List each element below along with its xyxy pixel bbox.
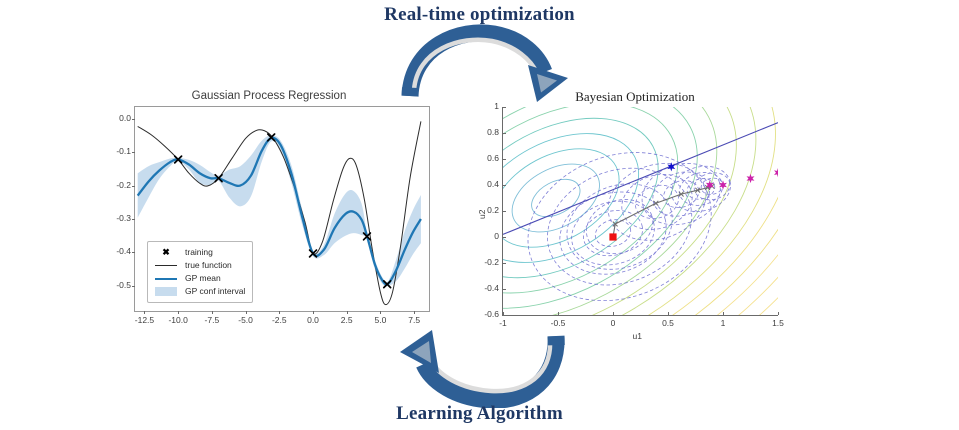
bo-y-tick: 0.8 bbox=[475, 127, 499, 137]
bo-x-tick: 0.5 bbox=[653, 318, 683, 328]
gpr-y-tickmark bbox=[132, 252, 135, 253]
line-black-icon bbox=[153, 265, 179, 266]
gpr-x-tick: 0.0 bbox=[297, 315, 329, 325]
gpr-x-tick: 7.5 bbox=[398, 315, 430, 325]
bo-x-tick: 1.5 bbox=[763, 318, 793, 328]
line-blue-icon bbox=[153, 278, 179, 280]
bo-y-tickmark bbox=[503, 185, 506, 186]
gpr-x-tickmark bbox=[414, 311, 415, 314]
training-marker-icon: ✖ bbox=[153, 248, 179, 257]
bayesian-optimization-panel: Bayesian Optimization 10.80.60.40.20-0.2… bbox=[470, 88, 800, 350]
gpr-x-tick: -5.0 bbox=[230, 315, 262, 325]
gpr-x-tickmark bbox=[313, 311, 314, 314]
gpr-x-tick: 5.0 bbox=[364, 315, 396, 325]
bo-x-tickmark bbox=[558, 312, 559, 315]
gpr-y-tick: 0.0 bbox=[101, 113, 131, 123]
cycle-caption-top: Real-time optimization bbox=[0, 4, 959, 26]
bo-x-tickmark bbox=[723, 312, 724, 315]
gaussian-process-regression-panel: Gaussian Process Regression ✖ training bbox=[108, 88, 430, 328]
gpr-x-tick: -7.5 bbox=[196, 315, 228, 325]
gpr-x-tickmark bbox=[144, 311, 145, 314]
legend-item-gp-conf-interval: GP conf interval bbox=[153, 285, 245, 298]
gpr-y-tick: -0.5 bbox=[101, 280, 131, 290]
bo-plot-area: 10.80.60.40.20-0.2-0.4-0.6 -1-0.500.511.… bbox=[502, 107, 778, 316]
band-swatch-icon bbox=[153, 287, 179, 296]
objective-contour bbox=[503, 129, 636, 268]
legend-label: GP conf interval bbox=[185, 287, 245, 296]
bo-x-tick: -0.5 bbox=[543, 318, 573, 328]
legend-label: true function bbox=[185, 261, 232, 270]
legend-item-gp-mean: GP mean bbox=[153, 272, 245, 285]
gpr-x-tick: -12.5 bbox=[128, 315, 160, 325]
gpr-y-tick: -0.3 bbox=[101, 213, 131, 223]
objective-contour bbox=[525, 172, 586, 225]
gpr-y-tickmark bbox=[132, 186, 135, 187]
gpr-y-tickmark bbox=[132, 286, 135, 287]
bo-y-tick: 1 bbox=[475, 101, 499, 111]
gpr-x-tick: 2.5 bbox=[331, 315, 363, 325]
bo-x-tick: -1 bbox=[488, 318, 518, 328]
legend-label: GP mean bbox=[185, 274, 221, 283]
gpr-x-tick: -2.5 bbox=[263, 315, 295, 325]
bo-y-tick: -0.2 bbox=[475, 257, 499, 267]
gpr-x-tickmark bbox=[178, 311, 179, 314]
bo-y-tick: 0.4 bbox=[475, 179, 499, 189]
gpr-y-tick: -0.1 bbox=[101, 146, 131, 156]
cycle-caption-bottom: Learning Algorithm bbox=[0, 403, 959, 425]
sampled-optimum-star-marker bbox=[774, 168, 778, 177]
gpr-chart-title: Gaussian Process Regression bbox=[108, 88, 430, 104]
bo-y-tickmark bbox=[503, 289, 506, 290]
linear-constraint-line bbox=[503, 123, 778, 235]
gpr-y-tick: -0.4 bbox=[101, 246, 131, 256]
bo-y-tick: 0 bbox=[475, 231, 499, 241]
bo-x-tick: 1 bbox=[708, 318, 738, 328]
gpr-x-tickmark bbox=[246, 311, 247, 314]
objective-contour bbox=[503, 107, 759, 315]
gpr-x-tickmark bbox=[279, 311, 280, 314]
bo-x-tickmark bbox=[613, 312, 614, 315]
gpr-plot-area: ✖ training true function GP mean GP conf… bbox=[134, 106, 430, 312]
trust-region-ellipse bbox=[550, 180, 675, 285]
figure-root: Real-time optimization Gaussian Process … bbox=[0, 0, 959, 430]
trust-region-ellipse bbox=[592, 216, 634, 250]
objective-contour bbox=[503, 150, 611, 246]
bo-x-tickmark bbox=[778, 312, 779, 315]
bo-chart-title: Bayesian Optimization bbox=[470, 88, 800, 106]
gpr-y-tickmark bbox=[132, 119, 135, 120]
bo-y-tick: 0.6 bbox=[475, 153, 499, 163]
legend-label: training bbox=[185, 248, 213, 257]
gpr-x-tickmark bbox=[380, 311, 381, 314]
gpr-y-tick: -0.2 bbox=[101, 180, 131, 190]
bo-y-tickmark bbox=[503, 133, 506, 134]
bo-y-tickmark bbox=[503, 211, 506, 212]
bo-x-axis-label: u1 bbox=[633, 331, 642, 341]
bo-y-tickmark bbox=[503, 107, 506, 108]
bo-y-tickmark bbox=[503, 315, 506, 316]
bo-y-tickmark bbox=[503, 237, 506, 238]
bo-y-tickmark bbox=[503, 159, 506, 160]
gpr-x-tickmark bbox=[212, 311, 213, 314]
legend-item-training: ✖ training bbox=[153, 246, 245, 259]
path-waypoint-marker bbox=[654, 201, 659, 206]
objective-contour bbox=[503, 107, 685, 310]
gpr-legend: ✖ training true function GP mean GP conf… bbox=[147, 241, 253, 303]
initial-point-square-marker bbox=[609, 233, 616, 240]
sampled-optimum-star-marker bbox=[747, 174, 755, 183]
bo-plot-svg bbox=[503, 107, 778, 315]
gpr-x-tickmark bbox=[347, 311, 348, 314]
bo-y-tick: -0.4 bbox=[475, 283, 499, 293]
legend-item-true-function: true function bbox=[153, 259, 245, 272]
curved-arrow-left-icon bbox=[398, 330, 568, 413]
bo-x-tickmark bbox=[503, 312, 504, 315]
gpr-y-tickmark bbox=[132, 219, 135, 220]
bo-y-tickmark bbox=[503, 263, 506, 264]
bo-x-tickmark bbox=[668, 312, 669, 315]
gpr-x-tick: -10.0 bbox=[162, 315, 194, 325]
bo-x-tick: 0 bbox=[598, 318, 628, 328]
gpr-y-tickmark bbox=[132, 152, 135, 153]
bo-y-axis-label: u2 bbox=[477, 210, 487, 219]
